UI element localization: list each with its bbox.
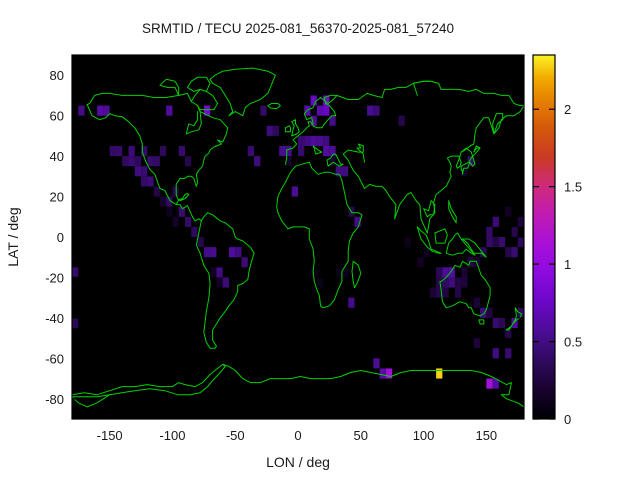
chart-title: SRMTID / TECU 2025-081_56370-2025-081_57… <box>142 21 454 36</box>
heatmap-cell <box>505 247 511 257</box>
heatmap-cell <box>147 176 153 186</box>
heatmap-cell <box>323 106 329 116</box>
heatmap-cell <box>248 146 254 156</box>
heatmap-cell <box>518 237 524 247</box>
x-tick-label: 0 <box>294 428 301 443</box>
y-tick-label: -80 <box>45 392 64 407</box>
heatmap-cell <box>499 237 505 247</box>
heatmap-cell <box>323 146 329 156</box>
heatmap-cell <box>129 156 135 166</box>
heatmap-cell <box>486 379 492 389</box>
heatmap-cell <box>191 227 197 237</box>
heatmap-cell <box>141 176 147 186</box>
heatmap-cell <box>493 348 499 358</box>
heatmap-cell <box>373 358 379 368</box>
heatmap-cell <box>461 277 467 287</box>
y-tick-label: 80 <box>50 68 64 83</box>
heatmap-cell <box>449 277 455 287</box>
heatmap-cell <box>317 136 323 146</box>
heatmap-cell <box>311 116 317 126</box>
heatmap-cell <box>72 267 78 277</box>
heatmap-cell <box>135 156 141 166</box>
y-tick-label: -60 <box>45 351 64 366</box>
heatmap-cell <box>474 338 480 348</box>
heatmap-cell <box>279 146 285 156</box>
heatmap-cell <box>417 257 423 267</box>
heatmap-cell <box>442 277 448 287</box>
heatmap-cell <box>336 267 342 277</box>
heatmap-cell <box>511 247 517 257</box>
heatmap-cell <box>311 136 317 146</box>
heatmap-cell <box>160 197 166 207</box>
heatmap-cell <box>166 106 172 116</box>
srmtid-tecu-world-heatmap: SRMTID / TECU 2025-081_56370-2025-081_57… <box>0 0 640 480</box>
heatmap-cell <box>298 136 304 146</box>
heatmap-cell <box>493 217 499 227</box>
heatmap-cell <box>229 247 235 257</box>
heatmap-cell <box>116 146 122 156</box>
heatmap-cell <box>292 186 298 196</box>
heatmap-cell <box>430 288 436 298</box>
heatmap-cell <box>474 298 480 308</box>
heatmap-cell <box>342 166 348 176</box>
heatmap-cell <box>160 146 166 156</box>
heatmap-cell <box>323 136 329 146</box>
heatmap-cell <box>210 247 216 257</box>
heatmap-cell <box>185 156 191 166</box>
x-tick-label: 150 <box>475 428 497 443</box>
x-tick-label: -150 <box>97 428 123 443</box>
heatmap-cell <box>216 277 222 287</box>
y-tick-label: 0 <box>57 230 64 245</box>
heatmap-cell <box>367 106 373 116</box>
heatmap-cell <box>242 257 248 267</box>
heatmap-cell <box>505 207 511 217</box>
heatmap-cell <box>455 277 461 287</box>
heatmap-cell <box>216 267 222 277</box>
heatmap-cell <box>342 267 348 277</box>
map-plot-background <box>72 55 524 419</box>
heatmap-cell <box>486 308 492 318</box>
heatmap-cell <box>380 368 386 378</box>
x-tick-label: -100 <box>159 428 185 443</box>
heatmap-cell <box>135 166 141 176</box>
x-tick-label: 50 <box>354 428 368 443</box>
heatmap-cell <box>254 156 260 166</box>
colorbar-tick-label: 0 <box>564 412 571 427</box>
heatmap-cell <box>317 106 323 116</box>
heatmap-cell <box>154 186 160 196</box>
heatmap-cell <box>348 298 354 308</box>
heatmap-cell <box>373 106 379 116</box>
heatmap-cell <box>442 288 448 298</box>
heatmap-cell <box>461 267 467 277</box>
y-tick-label: -40 <box>45 311 64 326</box>
heatmap-cell <box>311 95 317 105</box>
y-tick-label: -20 <box>45 270 64 285</box>
heatmap-cell <box>166 207 172 217</box>
heatmap-cell <box>493 237 499 247</box>
heatmap-cell <box>449 267 455 277</box>
heatmap-cell <box>97 106 103 116</box>
heatmap-cell <box>210 267 216 277</box>
heatmap-cell <box>336 166 342 176</box>
heatmap-cell <box>273 126 279 136</box>
heatmap-cell <box>72 318 78 328</box>
heatmap-cell <box>185 217 191 227</box>
heatmap-cell <box>436 277 442 287</box>
heatmap-cell <box>147 156 153 166</box>
heatmap-cell <box>154 156 160 166</box>
heatmap-cell <box>518 217 524 227</box>
heatmap-cell <box>235 247 241 257</box>
x-axis-title: LON / deg <box>266 454 330 470</box>
heatmap-cell <box>436 267 442 277</box>
heatmap-cell <box>405 237 411 247</box>
heatmap-cell <box>141 166 147 176</box>
heatmap-cell <box>436 368 442 378</box>
y-tick-label: 40 <box>50 149 64 164</box>
heatmap-cell <box>122 156 128 166</box>
heatmap-cell <box>386 368 392 378</box>
heatmap-cell <box>223 277 229 287</box>
colorbar-tick-label: 0.5 <box>564 335 582 350</box>
heatmap-cell <box>172 217 178 227</box>
heatmap-cell <box>493 318 499 328</box>
y-tick-label: 60 <box>50 109 64 124</box>
heatmap-cell <box>505 348 511 358</box>
heatmap-cell <box>480 308 486 318</box>
heatmap-cell <box>204 247 210 257</box>
colorbar-tick-label: 2 <box>564 102 571 117</box>
colorbar-tick-label: 1 <box>564 257 571 272</box>
heatmap-cell <box>468 257 474 267</box>
heatmap-cell <box>110 146 116 156</box>
heatmap-cell <box>298 146 304 156</box>
heatmap-cell <box>260 106 266 116</box>
heatmap-cell <box>499 318 505 328</box>
colorbar-tick-label: 1.5 <box>564 180 582 195</box>
heatmap-cell <box>78 106 84 116</box>
y-axis-title: LAT / deg <box>5 207 21 266</box>
heatmap-cell <box>317 277 323 287</box>
heatmap-cell <box>172 186 178 196</box>
x-tick-label: -50 <box>226 428 245 443</box>
heatmap-cell <box>198 237 204 247</box>
heatmap-cell <box>179 146 185 156</box>
heatmap-cell <box>267 126 273 136</box>
heatmap-cell <box>304 136 310 146</box>
y-tick-label: 20 <box>50 190 64 205</box>
heatmap-cell <box>486 227 492 237</box>
heatmap-cell <box>398 116 404 126</box>
heatmap-cell <box>455 288 461 298</box>
heatmap-cell <box>129 146 135 156</box>
heatmap-cell <box>511 227 517 237</box>
x-tick-label: 100 <box>413 428 435 443</box>
heatmap-cell <box>486 237 492 247</box>
